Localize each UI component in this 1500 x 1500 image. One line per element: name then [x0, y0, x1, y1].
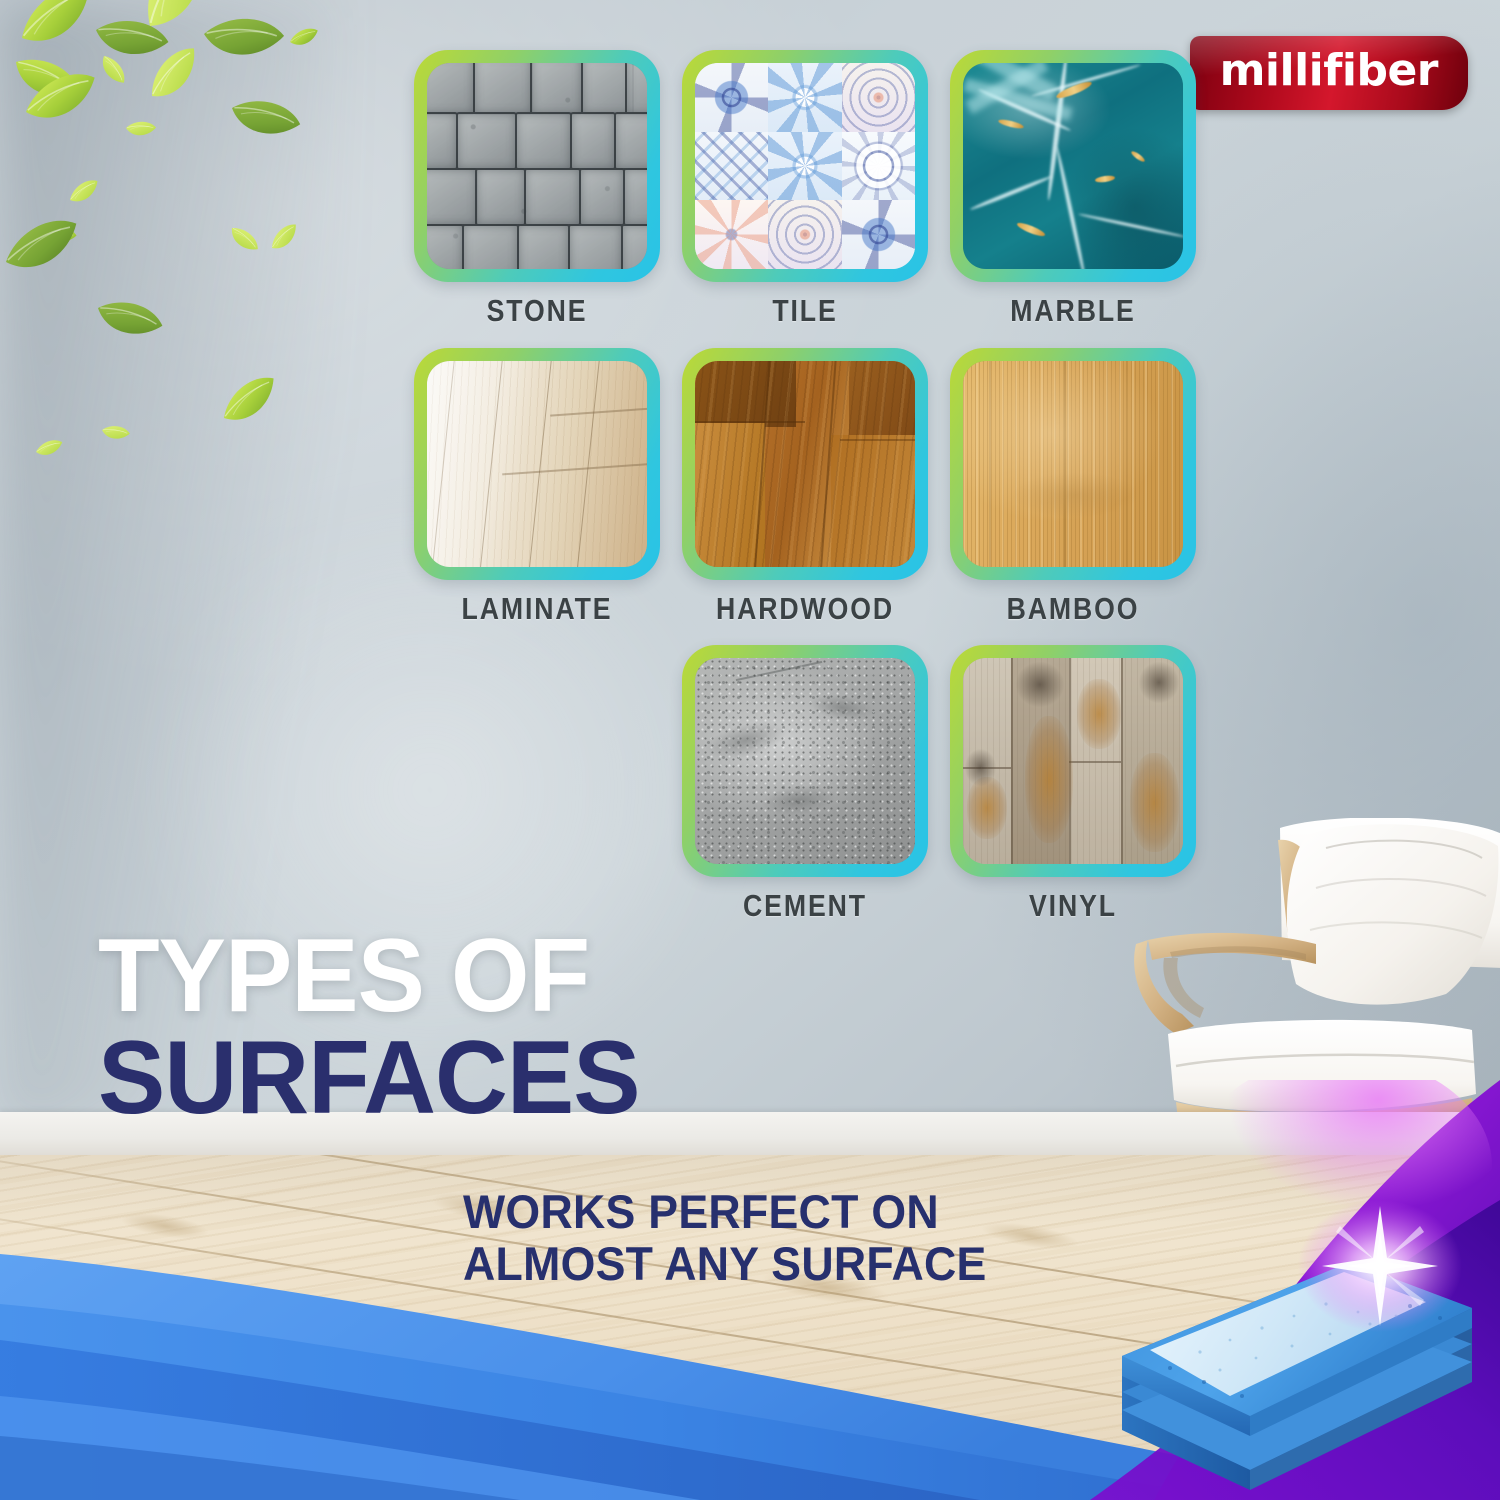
tile-texture: [695, 63, 915, 269]
laminate-texture: [427, 361, 647, 567]
surface-grid: STONE TILE: [0, 0, 1500, 930]
surface-swatch: [682, 50, 928, 282]
surface-item-laminate[interactable]: LAMINATE: [414, 348, 660, 624]
blue-swoosh: [0, 1200, 1180, 1500]
surface-swatch: [414, 348, 660, 580]
surface-item-stone[interactable]: STONE: [414, 50, 660, 326]
mop-pad-stack-svg: [1080, 1200, 1500, 1500]
cement-texture: [695, 658, 915, 864]
surface-thumb: [695, 361, 915, 567]
surface-thumb: [695, 63, 915, 269]
headline: TYPES OF SURFACES: [98, 930, 656, 1125]
surface-swatch: [682, 348, 928, 580]
marble-texture: [963, 63, 1183, 269]
surface-swatch: [950, 348, 1196, 580]
surface-thumb: [963, 63, 1183, 269]
headline-line-2: SURFACES: [98, 1032, 640, 1126]
surface-item-tile[interactable]: TILE: [682, 50, 928, 326]
surface-label: MARBLE: [967, 295, 1179, 326]
bamboo-texture: [963, 361, 1183, 567]
hardwood-texture: [695, 361, 915, 567]
marketing-banner: millifiber: [0, 0, 1500, 1500]
surface-item-hardwood[interactable]: HARDWOOD: [682, 348, 928, 624]
surface-label: HARDWOOD: [699, 593, 911, 624]
microfiber-mop-pad-stack: [1080, 1200, 1500, 1500]
surface-swatch: [950, 50, 1196, 282]
surface-swatch: [682, 645, 928, 877]
headline-line-1: TYPES OF: [98, 930, 640, 1024]
surface-thumb: [427, 361, 647, 567]
surface-label: BAMBOO: [967, 593, 1179, 624]
surface-item-bamboo[interactable]: BAMBOO: [950, 348, 1196, 624]
surface-thumb: [963, 361, 1183, 567]
surface-item-cement[interactable]: CEMENT: [682, 645, 928, 921]
surface-thumb: [695, 658, 915, 864]
surface-label: STONE: [431, 295, 643, 326]
surface-label: CEMENT: [699, 890, 911, 921]
surface-thumb: [427, 63, 647, 269]
surface-swatch: [414, 50, 660, 282]
sparkle-icon: [1298, 1200, 1462, 1332]
blue-swoosh-svg: [0, 1200, 1180, 1500]
surface-label: LAMINATE: [431, 593, 643, 624]
stone-texture: [427, 63, 647, 269]
surface-item-marble[interactable]: MARBLE: [950, 50, 1196, 326]
surface-label: TILE: [699, 295, 911, 326]
